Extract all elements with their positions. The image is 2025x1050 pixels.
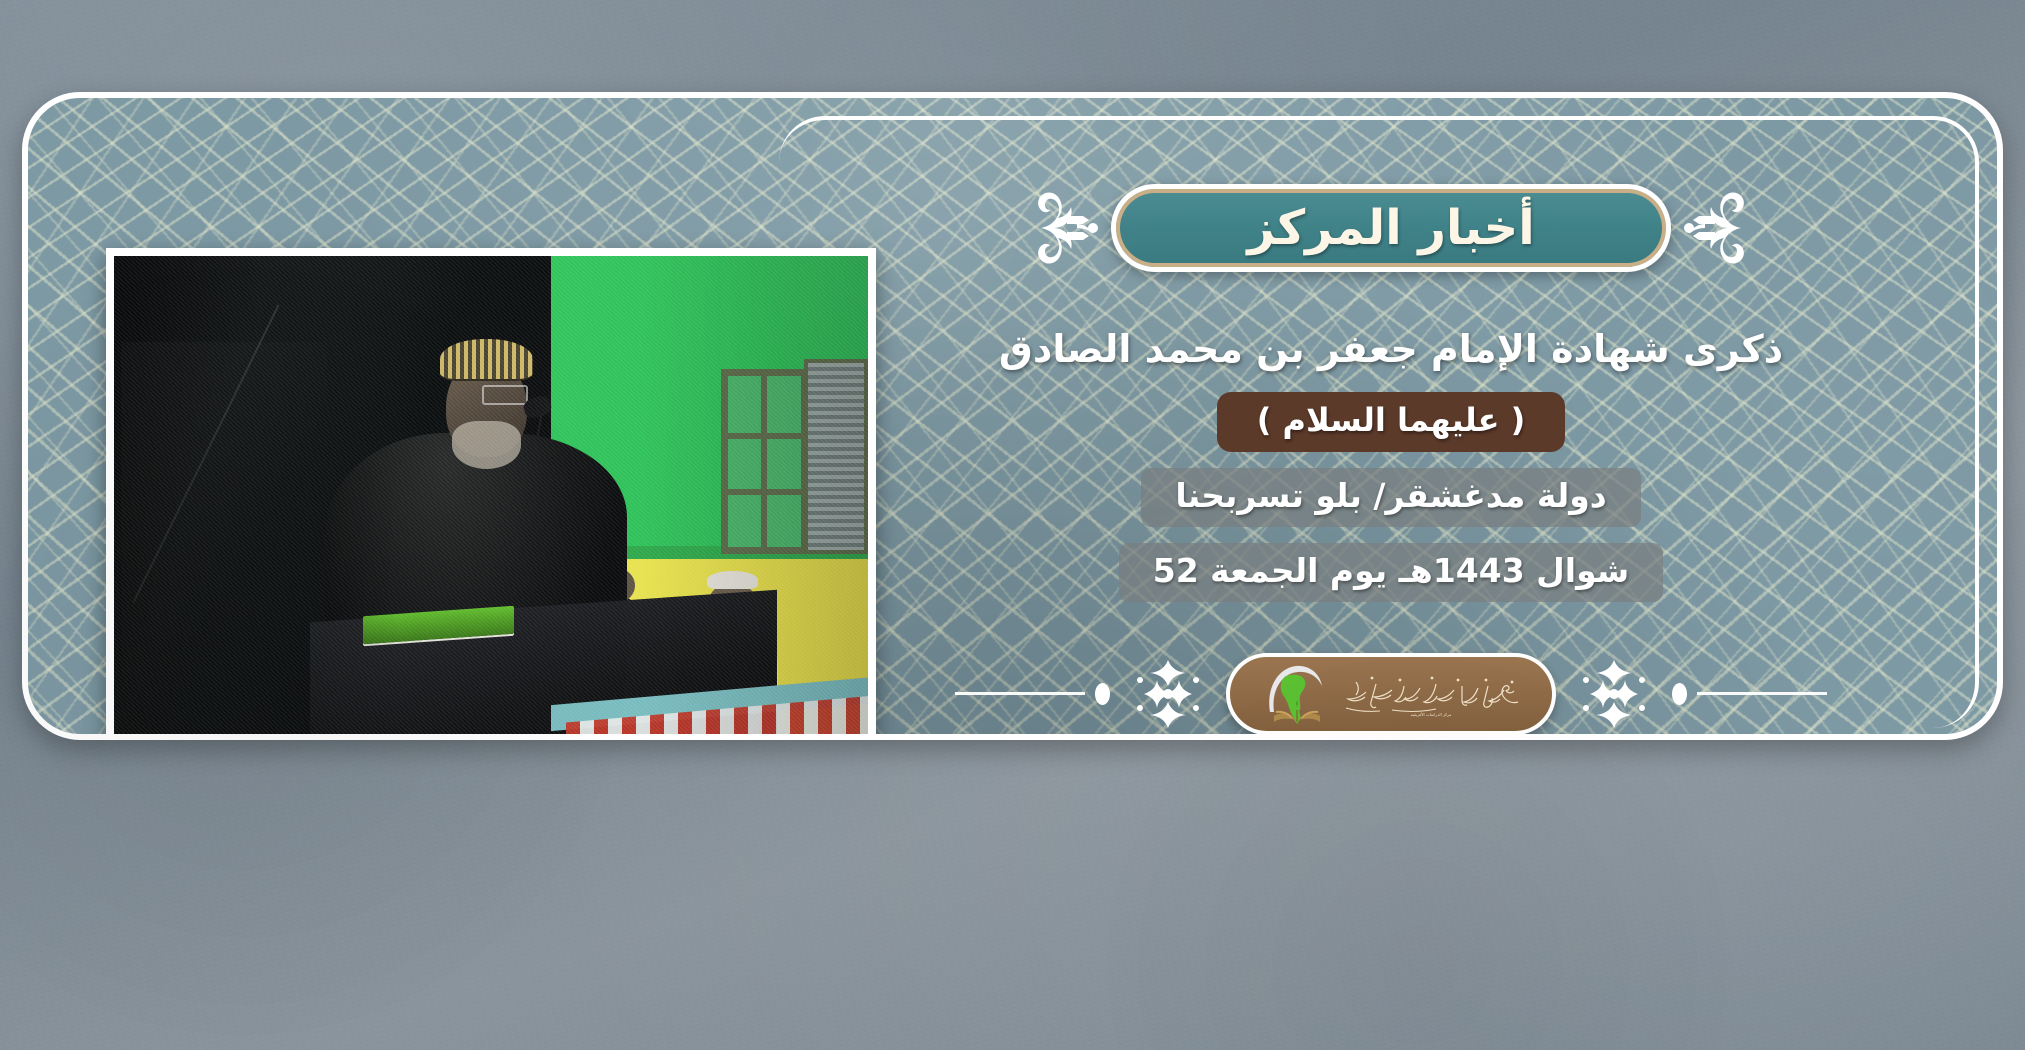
content-column: أخبار المركز ذكرى شهادة الإمام جعفر بن م… [831, 150, 1951, 710]
event-photo: رجل يلقي كلمة في الميكروفون وثلاثة رجال … [106, 248, 876, 740]
organization-name-text: مركز الدراسات الأفريقية [1411, 712, 1452, 717]
divider-rule-right [1697, 692, 1827, 695]
date-label: شوال 1443هـ يوم الجمعة 52 [1119, 543, 1664, 602]
headline-text: ذكرى شهادة الإمام جعفر بن محمد الصادق [999, 326, 1783, 374]
title-pill: أخبار المركز [1111, 184, 1671, 272]
organization-name-calligraphy: مركز الدراسات الأفريقية [1336, 668, 1526, 720]
banner-canvas: رجل يلقي كلمة في الميكروفون وثلاثة رجال … [0, 0, 2025, 1050]
flourish-right-icon [1675, 174, 1747, 282]
photo-scene [114, 256, 868, 740]
divider-dot-left [1095, 683, 1110, 705]
ornament-left-icon [1120, 646, 1216, 741]
photo-grain [114, 256, 868, 740]
main-card: رجل يلقي كلمة في الميكروفون وثلاثة رجال … [22, 92, 2003, 740]
location-label: دولة مدغشقر/ بلو تسربحنا [1141, 468, 1640, 527]
divider-dot-right [1672, 683, 1687, 705]
title-row: أخبار المركز [1035, 174, 1747, 282]
page-title: أخبار المركز [1247, 204, 1534, 252]
ornament-right-icon [1566, 646, 1662, 741]
divider-rule-left [955, 692, 1085, 695]
flourish-left-icon [1035, 174, 1107, 282]
honorific-badge: ( عليهما السلام ) [1217, 392, 1566, 452]
africa-map-icon [1256, 660, 1330, 728]
organization-logo: مركز الدراسات الأفريقية [1226, 653, 1556, 735]
logo-band: مركز الدراسات الأفريقية [831, 646, 1951, 741]
